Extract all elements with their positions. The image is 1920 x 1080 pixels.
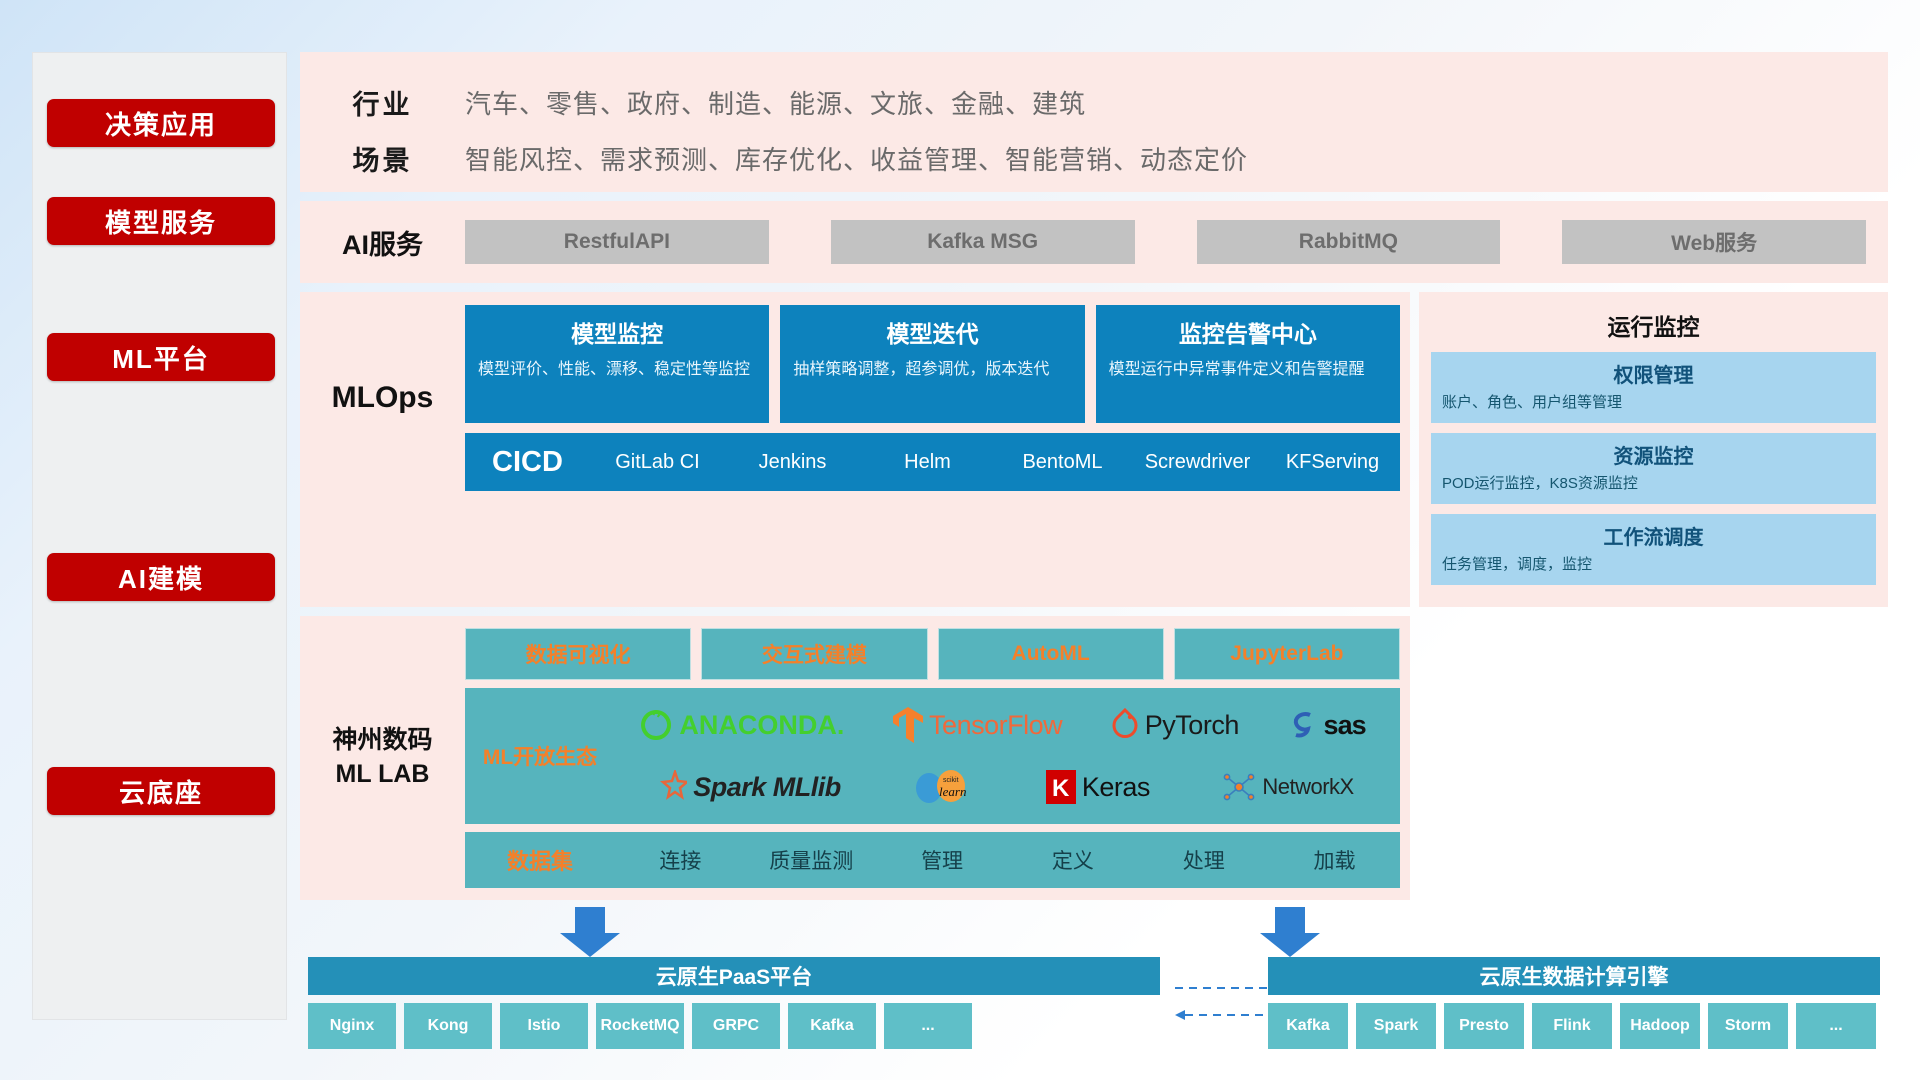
svg-text:scikit: scikit [943,777,959,784]
cicd-item-helm[interactable]: Helm [860,452,995,473]
cloud-chip-more[interactable]: ... [884,1003,972,1049]
rail-chip-label: AI建模 [118,559,204,596]
cloud-chip-istio[interactable]: Istio [500,1003,588,1049]
rail-chip-label: 决策应用 [105,105,217,142]
industry-value: 汽车、零售、政府、制造、能源、文旅、金融、建筑 [465,84,1086,121]
sas-logo-text: sas [1324,710,1366,741]
ai-service-key: AI服务 [300,223,465,262]
ai-service-chip-rabbitmq[interactable]: RabbitMQ [1197,220,1501,264]
pytorch-logo: PyTorch [1111,708,1239,742]
arrow-up-right-icon [1260,907,1320,957]
cloud-compute-chips: Kafka Spark Presto Flink Hadoop Storm ..… [1268,1003,1880,1049]
tensorflow-logo-text: TensorFlow [929,710,1062,741]
cloud-chip-rocketmq[interactable]: RocketMQ [596,1003,684,1049]
tool-chip-data-visualization[interactable]: 数据可视化 [465,628,691,680]
business-row-scenario: 场景 智能风控、需求预测、库存优化、收益管理、智能营销、动态定价 [300,130,1888,186]
rail-chip-model-service[interactable]: 模型服务 [47,197,275,245]
card-desc: POD运行监控，K8S资源监控 [1442,473,1865,494]
mlops-band: MLOps 模型监控 模型评价、性能、漂移、稳定性等监控 模型迭代 抽样策略调整… [300,292,1410,607]
rail-chip-label: ML平台 [112,339,210,376]
card-desc: 抽样策略调整，超参调优，版本迭代 [793,358,1071,381]
anaconda-logo-text: ANACONDA. [679,710,844,741]
compute-chip-kafka[interactable]: Kafka [1268,1003,1348,1049]
ml-ecosystem-row: ML开放生态 ANACONDA. [465,688,1400,824]
dataset-item-quality[interactable]: 质量监测 [746,845,877,875]
spark-icon [651,770,687,804]
mlops-and-monitor-row: MLOps 模型监控 模型评价、性能、漂移、稳定性等监控 模型迭代 抽样策略调整… [300,292,1888,607]
ai-service-chip-restfulapi[interactable]: RestfulAPI [465,220,769,264]
cloud-paas-chips: Nginx Kong Istio RocketMQ GRPC Kafka ... [308,1003,1160,1049]
cicd-item-screwdriver[interactable]: Screwdriver [1130,452,1265,473]
rail-chip-ai-modeling[interactable]: AI建模 [47,553,275,601]
svg-text:learn: learn [939,784,966,799]
business-band: 行业 汽车、零售、政府、制造、能源、文旅、金融、建筑 场景 智能风控、需求预测、… [300,52,1888,192]
dataset-items: 连接 质量监测 管理 定义 处理 加载 [615,845,1400,875]
scenario-key: 场景 [300,139,465,178]
cloud-base-section: 云原生PaaS平台 Nginx Kong Istio RocketMQ GRPC… [300,905,1888,1035]
ml-lab-key-line1: 神州数码 [332,724,432,758]
ecosystem-logo-line-1: ANACONDA. TensorFlow [615,694,1390,756]
tensorflow-icon [893,707,923,743]
sas-logo: sas [1288,709,1366,741]
runtime-monitor-title: 运行监控 [1431,308,1876,342]
cloud-paas-header: 云原生PaaS平台 [308,957,1160,995]
layer-rail: 决策应用 模型服务 ML平台 AI建模 云底座 [32,52,287,1020]
spark-mllib-logo: Spark MLlib [651,770,841,804]
ai-service-items: RestfulAPI Kafka MSG RabbitMQ Web服务 [465,220,1888,264]
mlops-card-model-iteration[interactable]: 模型迭代 抽样策略调整，超参调优，版本迭代 [780,305,1084,423]
rail-chip-label: 模型服务 [105,203,217,240]
ml-lab-key: 神州数码 ML LAB [300,628,465,888]
sas-icon [1288,709,1318,741]
compute-chip-more[interactable]: ... [1796,1003,1876,1049]
card-title: 模型迭代 [793,315,1071,349]
tool-chip-automl[interactable]: AutoML [938,628,1164,680]
dataset-item-manage[interactable]: 管理 [877,845,1008,875]
dataset-item-connect[interactable]: 连接 [615,845,746,875]
networkx-logo-text: NetworkX [1262,774,1353,800]
card-title: 工作流调度 [1442,521,1865,550]
lab-tool-row: 数据可视化 交互式建模 AutoML JupyterLab [465,628,1400,680]
rail-chip-ml-platform[interactable]: ML平台 [47,333,275,381]
ml-lab-key-line2: ML LAB [336,758,430,792]
networkx-logo: NetworkX [1222,771,1353,803]
monitor-card-workflow[interactable]: 工作流调度 任务管理，调度，监控 [1431,514,1876,585]
dataset-item-define[interactable]: 定义 [1007,845,1138,875]
cicd-item-kfserving[interactable]: KFServing [1265,452,1400,473]
ai-service-chip-kafka-msg[interactable]: Kafka MSG [831,220,1135,264]
rail-chip-decision[interactable]: 决策应用 [47,99,275,147]
keras-logo-text: Keras [1082,772,1150,803]
card-title: 监控告警中心 [1109,315,1387,349]
dataset-item-load[interactable]: 加载 [1269,845,1400,875]
industry-key: 行业 [300,83,465,122]
arrow-up-left-icon [560,907,620,957]
card-title: 资源监控 [1442,440,1865,469]
compute-chip-storm[interactable]: Storm [1708,1003,1788,1049]
monitor-card-resource[interactable]: 资源监控 POD运行监控，K8S资源监控 [1431,433,1876,504]
ai-service-chip-web[interactable]: Web服务 [1562,220,1866,264]
cloud-chip-kong[interactable]: Kong [404,1003,492,1049]
compute-chip-spark[interactable]: Spark [1356,1003,1436,1049]
compute-chip-presto[interactable]: Presto [1444,1003,1524,1049]
dashed-arrow-left-icon [1175,1010,1185,1020]
runtime-monitor-panel: 运行监控 权限管理 账户、角色、用户组等管理 资源监控 POD运行监控，K8S资… [1419,292,1888,607]
cloud-chip-kafka[interactable]: Kafka [788,1003,876,1049]
tensorflow-logo: TensorFlow [893,707,1062,743]
ml-ecosystem-label: ML开放生态 [465,741,615,771]
dataset-label: 数据集 [465,844,615,876]
svg-text:K: K [1052,775,1070,802]
cloud-chip-nginx[interactable]: Nginx [308,1003,396,1049]
cicd-label: CICD [465,446,590,479]
business-row-industry: 行业 汽车、零售、政府、制造、能源、文旅、金融、建筑 [300,74,1888,130]
anaconda-logo: ANACONDA. [639,708,844,742]
scikit-learn-logo: scikit learn [913,769,973,805]
networkx-icon [1222,771,1256,803]
anaconda-icon [639,708,673,742]
dataset-item-process[interactable]: 处理 [1138,845,1269,875]
scenario-value: 智能风控、需求预测、库存优化、收益管理、智能营销、动态定价 [465,140,1248,177]
compute-chip-hadoop[interactable]: Hadoop [1620,1003,1700,1049]
cicd-item-bentoml[interactable]: BentoML [995,452,1130,473]
tool-chip-interactive-modeling[interactable]: 交互式建模 [701,628,927,680]
cicd-item-jenkins[interactable]: Jenkins [725,452,860,473]
ai-service-band: AI服务 RestfulAPI Kafka MSG RabbitMQ Web服务 [300,201,1888,283]
tool-chip-jupyterlab[interactable]: JupyterLab [1174,628,1400,680]
mlops-key: MLOps [300,305,465,491]
cicd-items: GitLab CI Jenkins Helm BentoML Screwdriv… [590,452,1400,473]
card-title: 模型监控 [478,315,756,349]
compute-chip-flink[interactable]: Flink [1532,1003,1612,1049]
dataset-row: 数据集 连接 质量监测 管理 定义 处理 加载 [465,832,1400,888]
mlops-card-alert-center[interactable]: 监控告警中心 模型运行中异常事件定义和告警提醒 [1096,305,1400,423]
card-desc: 模型运行中异常事件定义和告警提醒 [1109,358,1387,381]
monitor-card-permission[interactable]: 权限管理 账户、角色、用户组等管理 [1431,352,1876,423]
mlops-card-model-monitor[interactable]: 模型监控 模型评价、性能、漂移、稳定性等监控 [465,305,769,423]
card-desc: 账户、角色、用户组等管理 [1442,392,1865,413]
keras-logo: K Keras [1046,770,1150,804]
ml-ecosystem-logos: ANACONDA. TensorFlow [615,688,1400,824]
cicd-item-gitlab-ci[interactable]: GitLab CI [590,452,725,473]
rail-chip-label: 云底座 [119,773,203,810]
cloud-compute-header: 云原生数据计算引擎 [1268,957,1880,995]
card-title: 权限管理 [1442,359,1865,388]
spark-mllib-logo-text: Spark MLlib [693,772,841,803]
cicd-bar: CICD GitLab CI Jenkins Helm BentoML Scre… [465,433,1400,491]
keras-icon: K [1046,770,1076,804]
pytorch-logo-text: PyTorch [1145,710,1239,741]
rail-chip-cloud-base[interactable]: 云底座 [47,767,275,815]
scikit-learn-icon: scikit learn [913,769,973,805]
cloud-chip-grpc[interactable]: GRPC [692,1003,780,1049]
ml-lab-row: 神州数码 ML LAB 数据可视化 交互式建模 AutoML JupyterLa… [300,616,1888,900]
pytorch-icon [1111,708,1139,742]
ml-lab-band: 神州数码 ML LAB 数据可视化 交互式建模 AutoML JupyterLa… [300,616,1410,900]
card-desc: 任务管理，调度，监控 [1442,554,1865,575]
ecosystem-logo-line-2: Spark MLlib scikit learn [615,756,1390,818]
card-desc: 模型评价、性能、漂移、稳定性等监控 [478,358,756,381]
architecture-stack: 行业 汽车、零售、政府、制造、能源、文旅、金融、建筑 场景 智能风控、需求预测、… [300,52,1888,900]
